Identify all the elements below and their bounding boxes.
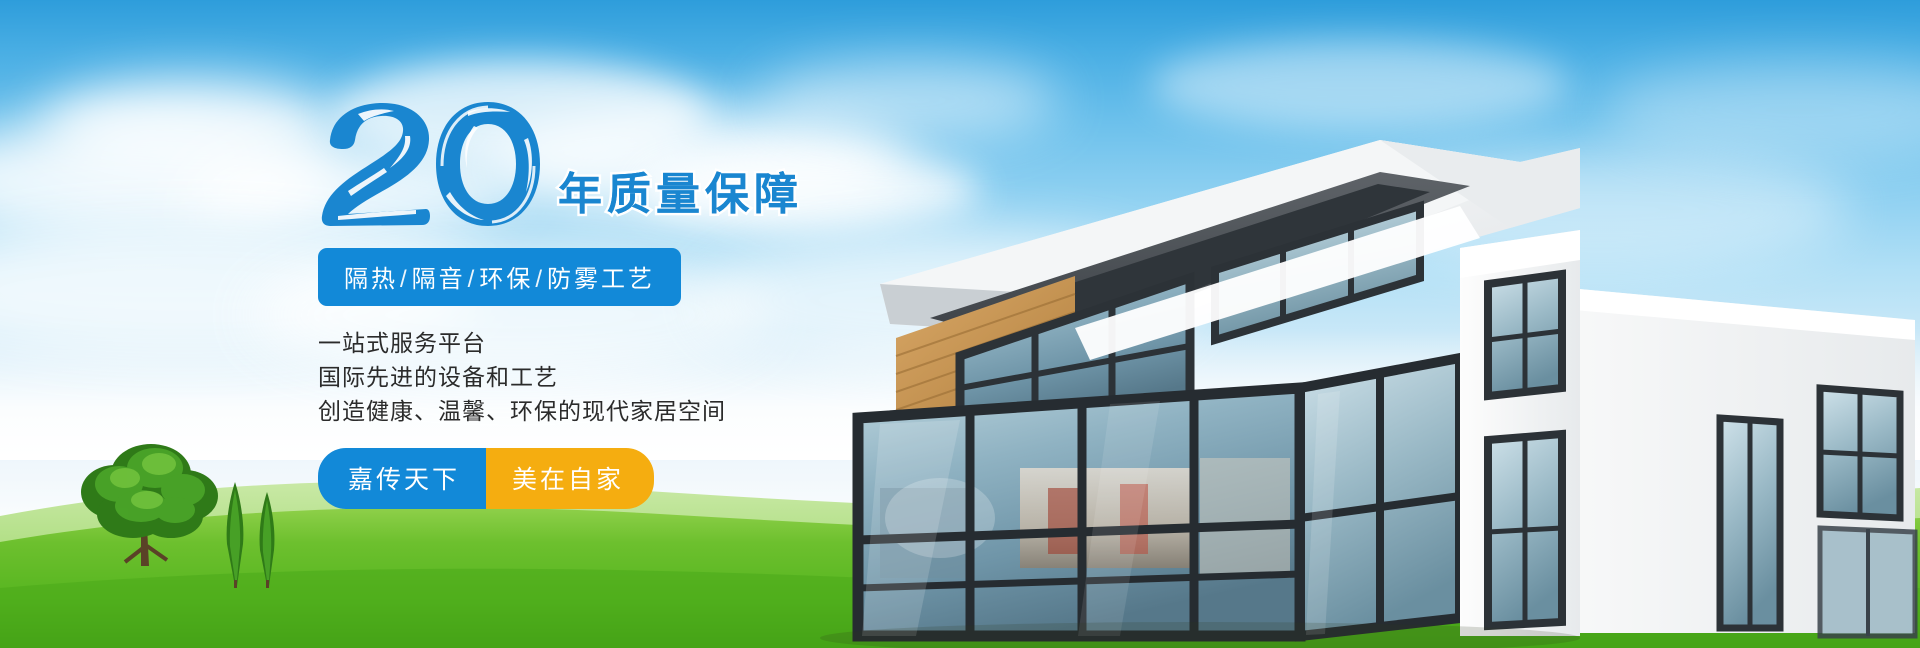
feature-badge: 隔热/隔音/环保/防雾工艺 <box>318 248 681 306</box>
description-block: 一站式服务平台 国际先进的设备和工艺 创造健康、温馨、环保的现代家居空间 <box>318 326 1078 428</box>
cypress-trees <box>205 468 295 588</box>
description-line-1: 一站式服务平台 <box>318 326 1078 360</box>
feature-item-1: 隔音 <box>412 266 466 293</box>
description-line-2: 国际先进的设备和工艺 <box>318 360 1078 394</box>
headline-suffix: 年质量保障 <box>558 158 803 222</box>
feature-separator-2: / <box>533 266 547 293</box>
cta-primary-button[interactable]: 嘉传天下 <box>318 448 486 509</box>
side-glass-wall <box>1300 358 1460 636</box>
hero-banner: 年质量保障 年质量保障 隔热/隔音/环保/防雾工艺 一站式服务平台 国际先进的设… <box>0 0 1920 648</box>
headline-number-20 <box>318 96 548 228</box>
headline-row: 年质量保障 年质量保障 <box>318 96 1078 228</box>
cta-accent-button[interactable]: 美在自家 <box>486 448 654 509</box>
feature-item-2: 环保 <box>479 266 533 293</box>
feature-separator-0: / <box>398 266 412 293</box>
tall-right-window <box>1488 274 1562 626</box>
hero-copy: 年质量保障 年质量保障 隔热/隔音/环保/防雾工艺 一站式服务平台 国际先进的设… <box>318 96 1078 509</box>
feature-item-3: 防雾工艺 <box>547 266 655 293</box>
description-line-3: 创造健康、温馨、环保的现代家居空间 <box>318 394 1078 428</box>
cta-group[interactable]: 嘉传天下 美在自家 <box>318 448 654 509</box>
feature-separator-1: / <box>466 266 480 293</box>
feature-item-0: 隔热 <box>344 266 398 293</box>
